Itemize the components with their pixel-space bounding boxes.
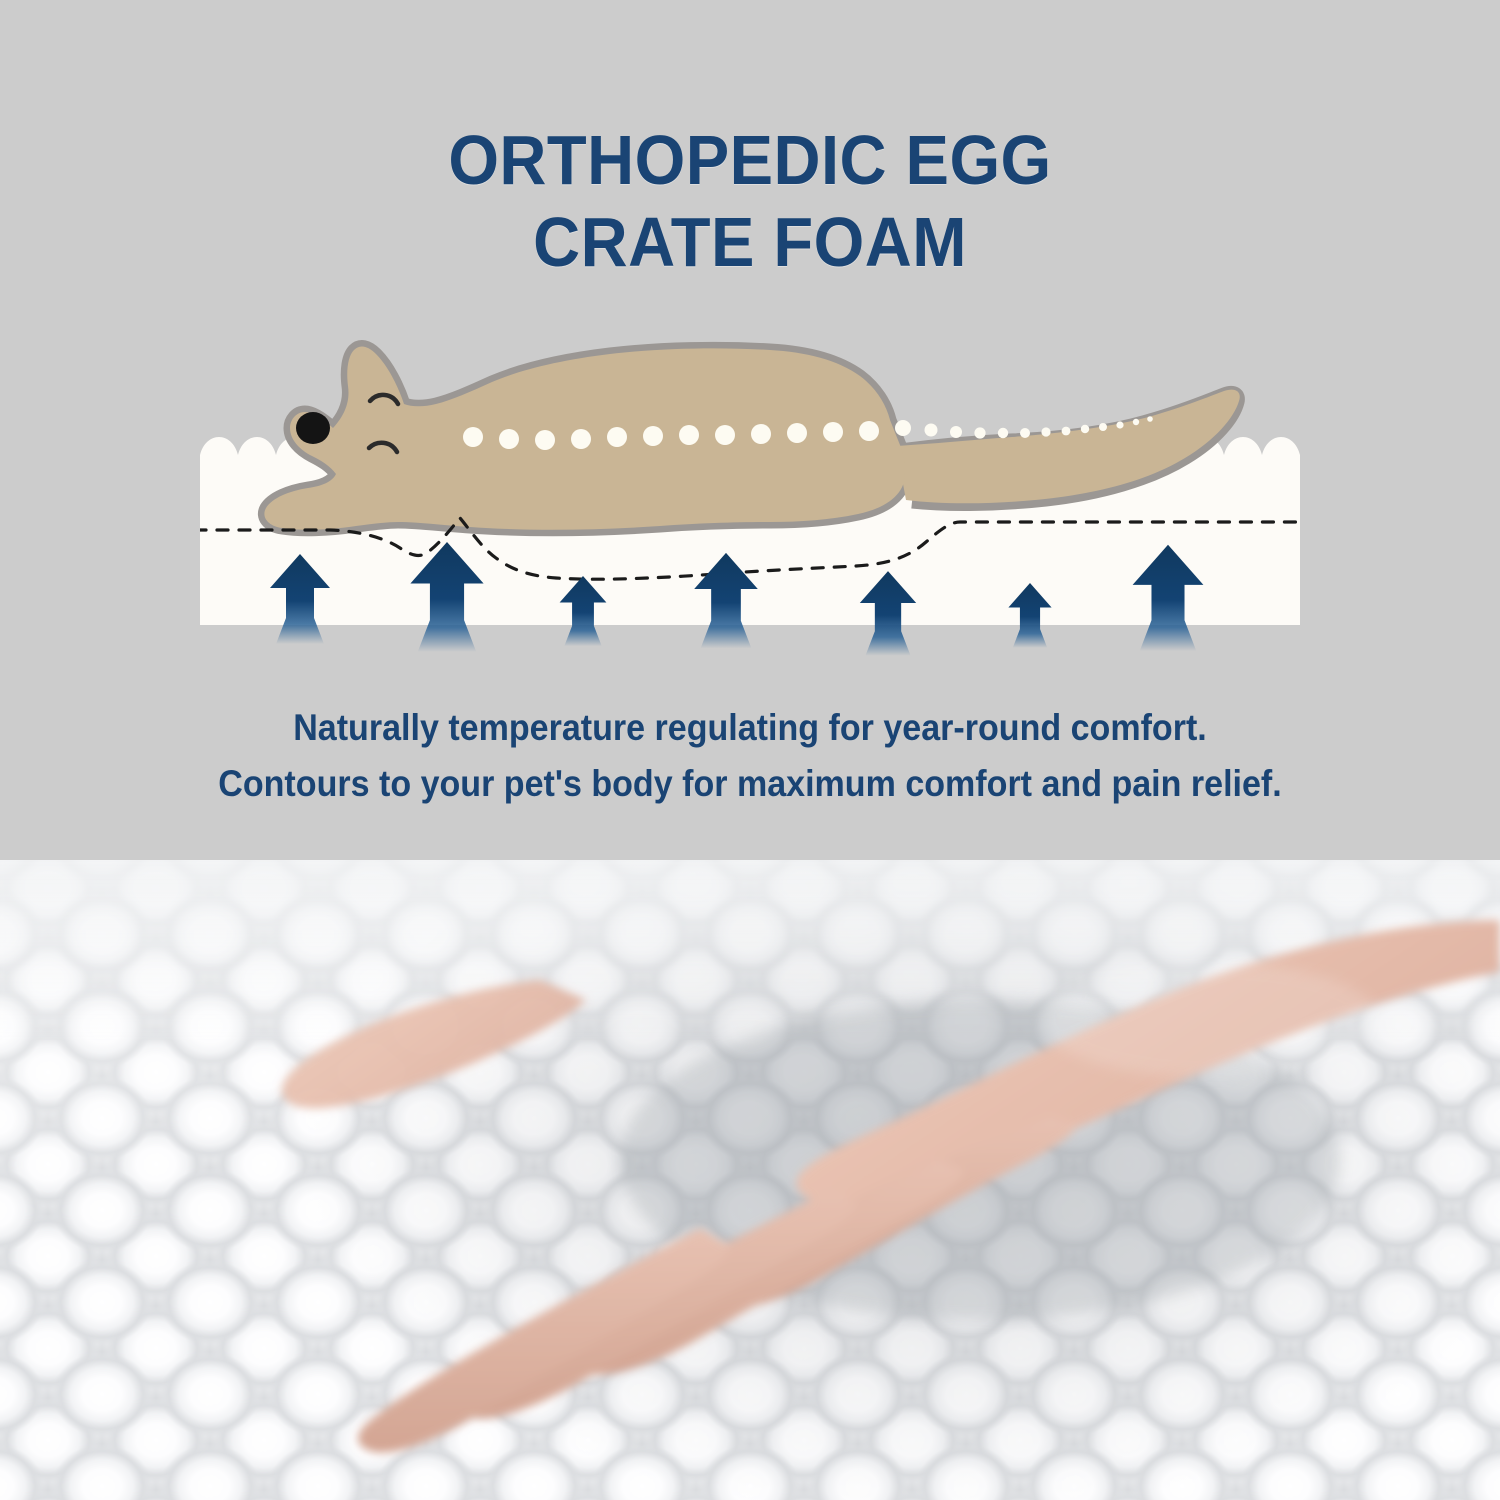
caption-block: Naturally temperature regulating for yea… bbox=[60, 700, 1440, 812]
caption-line-1: Naturally temperature regulating for yea… bbox=[60, 700, 1440, 756]
dog-nose bbox=[296, 412, 330, 444]
page-title: ORTHOPEDIC EGG CRATE FOAM bbox=[53, 119, 1448, 283]
foam-photo bbox=[0, 860, 1500, 1500]
caption-line-2: Contours to your pet's body for maximum … bbox=[60, 756, 1440, 812]
diagram-panel: ORTHOPEDIC EGG CRATE FOAM bbox=[0, 0, 1500, 860]
product-infographic: ORTHOPEDIC EGG CRATE FOAM bbox=[0, 0, 1500, 1500]
foam-support-diagram bbox=[0, 300, 1500, 680]
hand-pressing-foam bbox=[0, 860, 1500, 1500]
